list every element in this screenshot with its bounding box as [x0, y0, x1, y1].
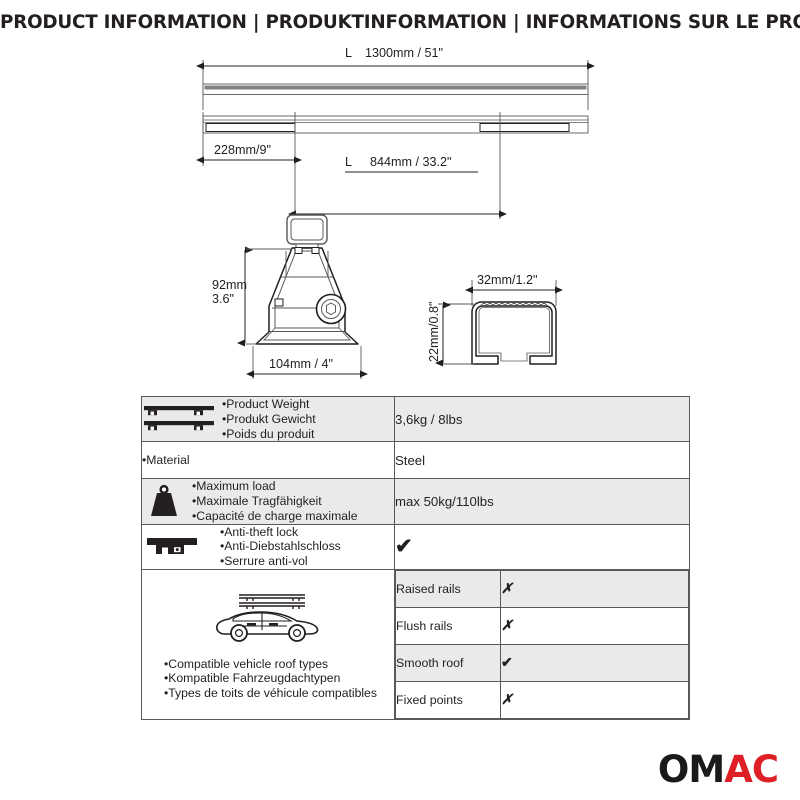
label-line: •Produkt Gewicht [222, 412, 316, 427]
drawing-svg: L 1300mm / 51" 228mm/9" L 844mm / 33.2" [0, 44, 800, 389]
profile-cross-section [472, 302, 556, 364]
cross-icon: ✗ [501, 617, 513, 633]
label-line: •Maximale Tragfähigkeit [192, 494, 358, 509]
table-row-maximum-load: •Maximum load •Maximale Tragfähigkeit •C… [142, 479, 690, 524]
label-cell-maximum-load: •Maximum load •Maximale Tragfähigkeit •C… [142, 479, 395, 524]
label-line: •Maximum load [192, 479, 358, 494]
cross-icon: ✗ [501, 691, 513, 707]
dim-label-total-length: 1300mm / 51" [365, 46, 443, 60]
label-line: •Anti-theft lock [220, 525, 341, 540]
crossbar-front-view [203, 84, 588, 95]
check-icon: ✔ [395, 536, 413, 557]
label-line: •Compatible vehicle roof types [164, 657, 394, 672]
car-with-rack-icon [142, 588, 394, 646]
value-cell-material: Steel [395, 442, 690, 479]
value-cell-anti-theft-lock: ✔ [395, 524, 690, 569]
foot-mount-elevation [256, 215, 358, 344]
roof-type-name: Smooth roof [396, 644, 501, 681]
roof-type-mark-cell: ✗ [501, 607, 689, 644]
table-row-product-weight: •Product Weight •Produkt Gewicht •Poids … [142, 397, 690, 442]
label-line: •Poids du produit [222, 427, 316, 442]
dim-label-span-prefix: L [345, 155, 352, 169]
label-text-anti-theft-lock: •Anti-theft lock •Anti-Diebstahlschloss … [220, 525, 341, 569]
dim-label-foot-height-mm: 92mm [212, 278, 247, 292]
roof-type-row: Fixed points ✗ [396, 681, 689, 718]
label-cell-material: •Material [142, 442, 395, 479]
roof-type-row: Flush rails ✗ [396, 607, 689, 644]
roof-type-mark-cell: ✔ [501, 644, 689, 681]
label-line: •Serrure anti-vol [220, 554, 341, 569]
dim-label-foot-offset: 228mm/9" [214, 143, 271, 157]
label-line: •Material [142, 453, 190, 468]
label-cell-anti-theft-lock: •Anti-theft lock •Anti-Diebstahlschloss … [142, 524, 395, 569]
value-cell-maximum-load: max 50kg/110lbs [395, 479, 690, 524]
value-cell-product-weight: 3,6kg / 8lbs [395, 397, 690, 442]
roof-bars-icon [142, 402, 216, 436]
roof-type-row: Raised rails ✗ [396, 570, 689, 607]
roof-type-mark-cell: ✗ [501, 570, 689, 607]
dim-label-profile-width: 32mm/1.2" [477, 273, 537, 287]
dim-label-span: 844mm / 33.2" [370, 155, 451, 169]
roof-types-table: Raised rails ✗ Flush rails ✗ [395, 570, 689, 719]
roof-type-name: Fixed points [396, 681, 501, 718]
dim-label-profile-height: 22mm/0.8" [427, 302, 441, 362]
page-header: PRODUCT INFORMATION | PRODUKTINFORMATION… [0, 12, 800, 33]
specification-table: •Product Weight •Produkt Gewicht •Poids … [141, 396, 690, 720]
label-text-compatible-roof-types: •Compatible vehicle roof types •Kompatib… [142, 657, 394, 702]
label-text-maximum-load: •Maximum load •Maximale Tragfähigkeit •C… [192, 479, 358, 523]
roof-type-name: Raised rails [396, 570, 501, 607]
cross-icon: ✗ [501, 580, 513, 596]
roof-types-cell: Raised rails ✗ Flush rails ✗ [395, 569, 690, 719]
label-text-material: •Material [142, 453, 190, 468]
logo-text-om: OM [658, 748, 724, 791]
label-line: •Types de toits de véhicule compatibles [164, 686, 394, 701]
crossbar-top-view [203, 116, 588, 133]
dim-label-total-length-prefix: L [345, 46, 352, 60]
table-row-compatible-roof-types: •Compatible vehicle roof types •Kompatib… [142, 569, 690, 719]
technical-drawing: L 1300mm / 51" 228mm/9" L 844mm / 33.2" [0, 44, 800, 389]
dim-label-foot-height-in: 3.6" [212, 292, 234, 306]
label-line: •Capacité de charge maximale [192, 509, 358, 524]
label-cell-product-weight: •Product Weight •Produkt Gewicht •Poids … [142, 397, 395, 442]
roof-type-mark-cell: ✗ [501, 681, 689, 718]
label-text-product-weight: •Product Weight •Produkt Gewicht •Poids … [222, 397, 316, 441]
page-title: PRODUCT INFORMATION | PRODUKTINFORMATION… [0, 12, 800, 33]
table-row-material: •Material Steel [142, 442, 690, 479]
label-cell-compatible-roof-types: •Compatible vehicle roof types •Kompatib… [142, 569, 395, 719]
label-line: •Anti-Diebstahlschloss [220, 539, 341, 554]
label-line: •Kompatible Fahrzeugdachtypen [164, 671, 394, 686]
logo-text-ac: AC [724, 748, 778, 791]
label-line: •Product Weight [222, 397, 316, 412]
check-icon: ✔ [501, 654, 513, 670]
roof-type-name: Flush rails [396, 607, 501, 644]
lock-icon [142, 532, 202, 562]
table-row-anti-theft-lock: •Anti-theft lock •Anti-Diebstahlschloss … [142, 524, 690, 569]
omac-logo: OMAC [658, 751, 778, 788]
dim-label-foot-width: 104mm / 4" [269, 357, 333, 371]
roof-type-row: Smooth roof ✔ [396, 644, 689, 681]
weight-icon [142, 481, 186, 521]
